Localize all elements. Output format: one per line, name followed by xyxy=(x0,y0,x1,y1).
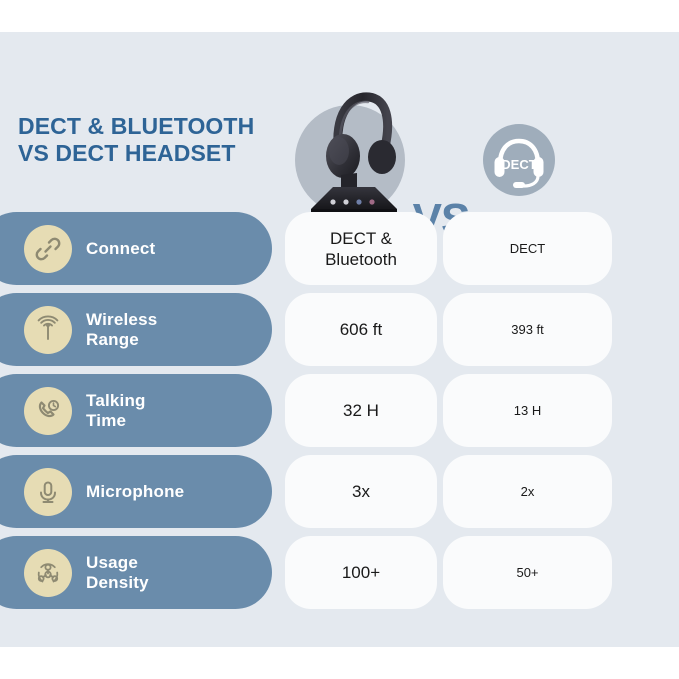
row-label-usage-density: Usage Density xyxy=(0,536,272,609)
cell-primary: 3x xyxy=(285,455,437,528)
comparison-table: Connect DECT & Bluetooth DECT xyxy=(0,212,679,617)
microphone-icon xyxy=(24,468,72,516)
row-label-text: Microphone xyxy=(86,482,184,502)
page-title: DECT & BLUETOOTH VS DECT HEADSET xyxy=(18,113,298,167)
cell-primary: 606 ft xyxy=(285,293,437,366)
row-label-line-1: Talking xyxy=(86,391,146,410)
row-label-microphone: Microphone xyxy=(0,455,272,528)
cell-primary: 100+ xyxy=(285,536,437,609)
row-label-line-1: Wireless xyxy=(86,310,157,329)
network-nodes-icon xyxy=(24,549,72,597)
row-label-text: Talking Time xyxy=(86,391,146,431)
row-label-line-2: Density xyxy=(86,573,149,592)
cell-secondary: 2x xyxy=(443,455,612,528)
table-row: Connect DECT & Bluetooth DECT xyxy=(0,212,679,285)
row-label-connect: Connect xyxy=(0,212,272,285)
dect-badge-text: DECT xyxy=(501,157,536,172)
dect-bluetooth-headset-photo xyxy=(293,87,411,217)
phone-clock-icon xyxy=(24,387,72,435)
cell-secondary: 13 H xyxy=(443,374,612,447)
cell-primary-line-1: DECT & xyxy=(330,229,392,248)
page-title-line-2: VS DECT HEADSET xyxy=(18,140,298,167)
comparison-infographic: DECT & BLUETOOTH VS DECT HEADSET xyxy=(0,32,679,647)
wireless-signal-icon xyxy=(24,306,72,354)
cell-primary-line-2: Bluetooth xyxy=(325,250,397,269)
cell-secondary: 50+ xyxy=(443,536,612,609)
table-row: Usage Density 100+ 50+ xyxy=(0,536,679,609)
table-row: Microphone 3x 2x xyxy=(0,455,679,528)
page-title-line-1: DECT & BLUETOOTH xyxy=(18,113,298,140)
dect-headset-outline-icon: DECT xyxy=(483,124,555,196)
cell-secondary: DECT xyxy=(443,212,612,285)
cell-primary: DECT & Bluetooth xyxy=(285,212,437,285)
row-label-text: Usage Density xyxy=(86,553,149,593)
row-label-line-2: Range xyxy=(86,330,139,349)
row-label-wireless-range: Wireless Range xyxy=(0,293,272,366)
link-chain-icon xyxy=(24,225,72,273)
cell-primary: 32 H xyxy=(285,374,437,447)
table-row: Wireless Range 606 ft 393 ft xyxy=(0,293,679,366)
table-row: Talking Time 32 H 13 H xyxy=(0,374,679,447)
row-label-talking-time: Talking Time xyxy=(0,374,272,447)
row-label-text: Connect xyxy=(86,239,155,259)
hero-products: DECT VS xyxy=(285,87,679,217)
row-label-line-1: Usage xyxy=(86,553,138,572)
cell-secondary: 393 ft xyxy=(443,293,612,366)
row-label-text: Wireless Range xyxy=(86,310,157,350)
row-label-line-2: Time xyxy=(86,411,126,430)
